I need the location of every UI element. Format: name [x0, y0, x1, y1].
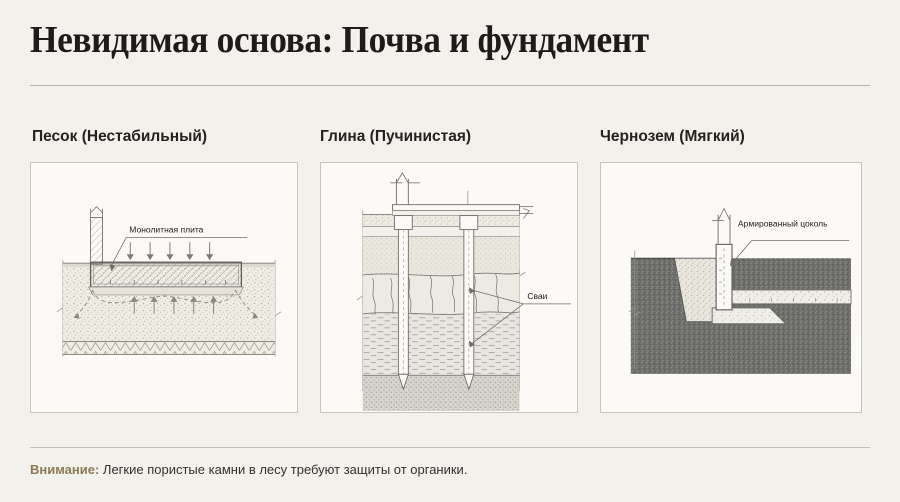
- callout-label-reinforced-plinth: Армированный цоколь: [738, 218, 828, 228]
- column-heading-sand: Песок (Нестабильный): [32, 128, 207, 146]
- column-heading-chernozem: Чернозем (Мягкий): [600, 128, 745, 146]
- footer-note: Внимание: Легкие пористые камни в лесу т…: [30, 462, 467, 477]
- callout-label-piles: Сваи: [527, 291, 547, 301]
- page-title: Невидимая основа: Почва и фундамент: [30, 18, 649, 62]
- footer-divider: [30, 447, 870, 448]
- diagram-panel-clay: Сваи: [320, 162, 578, 413]
- column-heading-clay: Глина (Пучинистая): [320, 128, 471, 146]
- diagram-panel-chernozem: Армированный цоколь: [600, 162, 862, 413]
- footer-note-text: Легкие пористые камни в лесу требуют защ…: [99, 462, 467, 477]
- diagram-panel-sand: Монолитная плита: [30, 162, 298, 413]
- footer-note-lead: Внимание:: [30, 462, 99, 477]
- title-divider: [30, 85, 870, 86]
- infographic-slide: Невидимая основа: Почва и фундамент Песо…: [0, 0, 900, 502]
- callout-label-monolithic-slab: Монолитная плита: [129, 224, 203, 234]
